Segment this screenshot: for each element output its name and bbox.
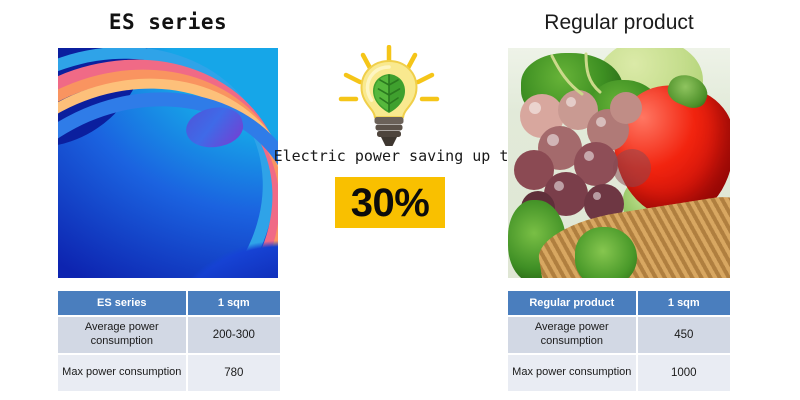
row-value-average-power: 450 [638,317,730,353]
table-row: Average power consumption 200-300 [58,317,280,353]
energy-saving-lightbulb-leaf-icon [333,45,445,149]
row-value-average-power: 200-300 [188,317,280,353]
table-header-row: ES series 1 sqm [58,291,280,315]
row-label-max-power: Max power consumption [58,355,186,391]
left-panel-title: ES series [58,10,278,34]
row-label-average-power: Average power consumption [58,317,186,353]
table-row: Max power consumption 780 [58,355,280,391]
table-header-unit: 1 sqm [188,291,280,315]
savings-percent-badge: 30% [335,177,445,228]
table-head: Regular product 1 sqm [508,291,730,315]
row-label-max-power: Max power consumption [508,355,636,391]
table-row: Average power consumption 450 [508,317,730,353]
table-row: Max power consumption 1000 [508,355,730,391]
regular-product-image [508,48,730,278]
savings-caption: Electric power saving up to [268,147,523,165]
produce-photo [508,48,730,278]
table-header-product: ES series [58,291,186,315]
table-header-unit: 1 sqm [638,291,730,315]
row-label-average-power: Average power consumption [508,317,636,353]
table-head: ES series 1 sqm [58,291,280,315]
comparison-infographic: ES series ES series 1 sqm Average power … [0,0,800,400]
es-series-product-image [58,48,278,278]
right-panel-title: Regular product [508,11,730,35]
row-value-max-power: 1000 [638,355,730,391]
regular-product-spec-table: Regular product 1 sqm Average power cons… [506,289,732,393]
center-savings-callout: Electric power saving up to 30% [278,40,508,260]
photo-parsley-bottom-center [575,227,637,278]
table-body: Average power consumption 200-300 Max po… [58,317,280,391]
row-value-max-power: 780 [188,355,280,391]
savings-percent-value: 30% [351,183,430,223]
es-series-spec-table: ES series 1 sqm Average power consumptio… [56,289,282,393]
table-header-product: Regular product [508,291,636,315]
table-body: Average power consumption 450 Max power … [508,317,730,391]
abstract-artwork [58,48,278,278]
table-header-row: Regular product 1 sqm [508,291,730,315]
